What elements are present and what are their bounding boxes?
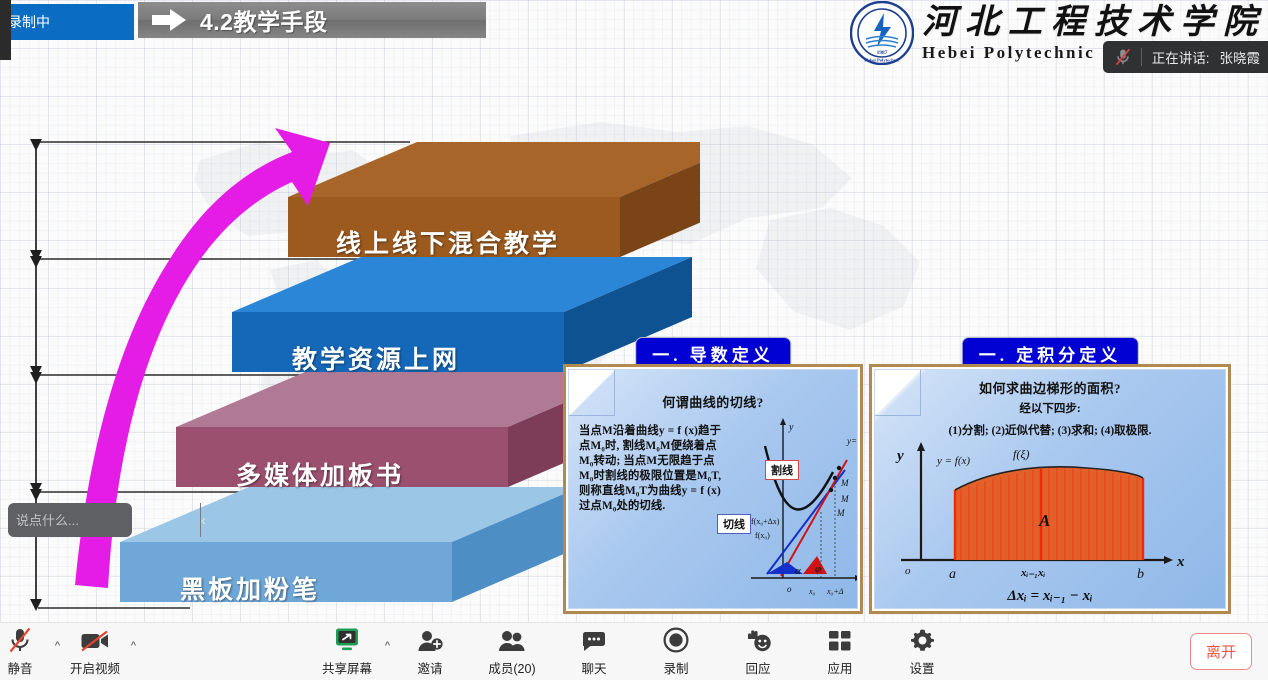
speaker-prefix: 正在讲话:	[1152, 47, 1210, 67]
apps-grid-icon	[828, 627, 852, 653]
share-options-caret[interactable]: ^	[385, 640, 390, 652]
record-button[interactable]: 录制	[648, 627, 704, 677]
mini-slide-steps-2: (1)分割; (2)近似代替; (3)求和; (4)取极限.	[875, 422, 1225, 438]
svg-text:x₀+Δ: x₀+Δ	[826, 587, 844, 596]
participants-icon	[498, 627, 526, 653]
svg-text:y = f(x): y = f(x)	[936, 455, 970, 467]
window-edge-strip	[0, 0, 11, 60]
svg-text:1987: 1987	[877, 50, 888, 56]
svg-text:y: y	[788, 422, 794, 433]
body-line: M₀时割线的极限位置是M₀T,	[579, 469, 759, 484]
body-line: 则称直线M₀T为曲线y = f (x)	[579, 484, 759, 499]
svg-text:M: M	[836, 508, 845, 518]
svg-text:M: M	[840, 494, 849, 504]
video-off-icon	[80, 627, 110, 653]
svg-text:x: x	[1176, 554, 1185, 570]
mini-slide-question-1: 何谓曲线的切线?	[569, 392, 857, 411]
toolbar-left-group: 静音 ^ 开启视频 ^	[0, 623, 124, 680]
svg-text:f(x₀+Δx): f(x₀+Δx)	[751, 517, 780, 526]
video-options-caret[interactable]: ^	[131, 640, 136, 652]
reactions-label: 回应	[745, 658, 770, 677]
mute-button[interactable]: 静音 ^	[0, 627, 48, 677]
svg-text:α: α	[795, 565, 801, 577]
callout-tangent: 切线	[717, 514, 751, 534]
share-screen-button[interactable]: 共享屏幕 ^	[318, 627, 376, 677]
speaker-name: 张晓霞	[1220, 47, 1261, 67]
callout-secant: 割线	[765, 460, 799, 480]
chat-button[interactable]: 聊天	[566, 627, 622, 677]
meeting-window: 线上线下混合教学 教学资源上网 多媒体加板书 黑板加粉笔 一. 导数定义 何谓曲…	[0, 0, 1268, 680]
mini-slide-derivative: 一. 导数定义 何谓曲线的切线? 当点M沿着曲线y = f (x)趋于 点M₀时…	[563, 337, 863, 614]
invite-label: 邀请	[417, 658, 442, 677]
reactions-button[interactable]: 回应	[730, 627, 786, 677]
apps-button[interactable]: 应用	[812, 627, 868, 677]
toolbar-center-group: 共享屏幕 ^ 邀请	[318, 627, 950, 677]
svg-text:o: o	[905, 565, 911, 577]
shared-screen-area: 线上线下混合教学 教学资源上网 多媒体加板书 黑板加粉笔 一. 导数定义 何谓曲…	[0, 0, 1268, 622]
svg-text:b: b	[1137, 567, 1144, 582]
pill-divider	[1141, 48, 1142, 66]
svg-text:o: o	[787, 584, 792, 594]
leave-meeting-button[interactable]: 离开	[1190, 633, 1252, 670]
svg-text:Hebei Polytechnic: Hebei Polytechnic	[864, 58, 899, 63]
meeting-toolbar: 静音 ^ 开启视频 ^	[0, 622, 1268, 680]
share-screen-icon	[333, 627, 361, 653]
svg-text:φ: φ	[815, 563, 821, 575]
body-line: 过点M₀处的切线.	[579, 499, 759, 514]
slide-title-bar: 4.2教学手段	[138, 2, 486, 38]
chat-bubble-icon	[581, 627, 607, 653]
record-label: 录制	[663, 658, 688, 677]
mini-slide-subtitle-2: 经以下四步:	[875, 400, 1225, 416]
floating-chat-bar[interactable]: ‹	[8, 503, 132, 537]
school-seal-logo: 1987 Hebei Polytechnic	[850, 1, 914, 65]
active-speaker-pill: 正在讲话: 张晓霞	[1103, 41, 1268, 73]
tier-block-1	[120, 487, 580, 602]
gear-icon	[910, 627, 935, 653]
recording-badge: 录制中	[0, 4, 134, 40]
svg-text:x₀: x₀	[808, 587, 816, 596]
participants-button[interactable]: 成员(20)	[484, 627, 540, 677]
svg-text:M: M	[840, 478, 849, 488]
body-line: 点M₀时, 割线M₀M便绕着点	[579, 439, 759, 454]
mini-slide-question-2: 如何求曲边梯形的面积?	[875, 378, 1225, 397]
participants-label: 成员(20)	[488, 658, 535, 677]
settings-button[interactable]: 设置	[894, 627, 950, 677]
reactions-icon	[745, 627, 772, 653]
mic-muted-icon	[8, 627, 32, 653]
school-name-cn: 河北工程技术学院	[922, 6, 1266, 40]
mini-slide-body-2: 如何求曲边梯形的面积? 经以下四步: (1)分割; (2)近似代替; (3)求和…	[869, 364, 1231, 614]
svg-text:a: a	[949, 567, 956, 582]
toolbar-right-group: 离开	[1190, 633, 1252, 670]
mini-slide-integral: 一. 定积分定义 如何求曲边梯形的面积? 经以下四步: (1)分割; (2)近似…	[869, 337, 1231, 614]
mini-slide-body-1: 何谓曲线的切线? 当点M沿着曲线y = f (x)趋于 点M₀时, 割线M₀M便…	[563, 364, 863, 614]
svg-text:xᵢ₋₁xᵢ: xᵢ₋₁xᵢ	[1020, 567, 1046, 579]
mic-muted-icon	[1115, 48, 1131, 66]
start-video-button-label: 开启视频	[70, 658, 120, 677]
svg-text:A: A	[1038, 511, 1050, 530]
mini-slide-formula-2: Δxᵢ = xᵢ₋₁ − xᵢ	[875, 586, 1225, 605]
right-arrow-icon	[152, 9, 186, 31]
svg-text:y=f: y=f	[846, 436, 858, 446]
chevron-left-icon[interactable]: ‹	[200, 503, 206, 537]
settings-label: 设置	[909, 658, 934, 677]
start-video-button[interactable]: 开启视频 ^	[66, 627, 124, 677]
svg-text:f(x₀): f(x₀)	[755, 531, 770, 540]
apps-label: 应用	[827, 658, 852, 677]
share-screen-label: 共享屏幕	[322, 658, 372, 677]
chat-label: 聊天	[581, 658, 606, 677]
invite-button[interactable]: 邀请	[402, 627, 458, 677]
body-line: 当点M沿着曲线y = f (x)趋于	[579, 424, 759, 439]
tangent-line-figure: y y=f M M M f(x₀+Δx) f(x₀) o x₀ x₀+Δ α φ	[747, 416, 858, 606]
chat-input[interactable]	[8, 513, 200, 528]
record-circle-icon	[663, 627, 689, 653]
svg-text:y: y	[895, 448, 904, 464]
mute-button-label: 静音	[7, 658, 32, 677]
riemann-sum-figure: y x o a b xᵢ₋₁xᵢ A y = f(x) f(ξ)	[891, 442, 1211, 582]
svg-text:f(ξ): f(ξ)	[1013, 447, 1029, 461]
tier-block-4	[288, 142, 700, 257]
body-line: M₀转动; 当点M无限趋于点	[579, 454, 759, 469]
mute-options-caret[interactable]: ^	[55, 640, 60, 652]
slide-title: 4.2教学手段	[200, 3, 327, 37]
invite-person-icon	[417, 627, 443, 653]
